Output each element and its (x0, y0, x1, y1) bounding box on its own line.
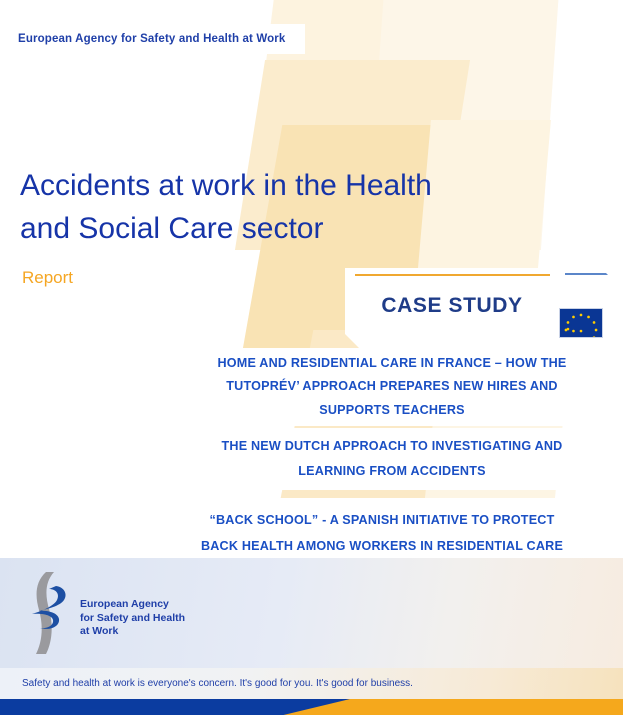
logo-line-3: at Work (80, 625, 185, 639)
case-study-card-title: “BACK SCHOOL” - A SPANISH INITIATIVE TO … (148, 508, 616, 560)
case-study-card: THE NEW DUTCH APPROACH TO INVESTIGATING … (168, 428, 616, 490)
case-study-line: SUPPORTS TEACHERS (178, 399, 606, 422)
badge-rule-blue (565, 273, 609, 275)
eu-osha-ribbon-icon (22, 570, 76, 656)
eu-osha-logo-text: European Agency for Safety and Health at… (80, 598, 185, 639)
logo-line-1: European Agency (80, 598, 185, 612)
case-study-line: TUTOPRÉV’ APPROACH PREPARES NEW HIRES AN… (178, 375, 606, 398)
case-study-line: BACK HEALTH AMONG WORKERS IN RESIDENTIAL… (156, 534, 608, 560)
case-study-label: CASE STUDY (345, 294, 559, 318)
footer-tagline: Safety and health at work is everyone's … (22, 678, 413, 689)
document-cover-page: European Agency for Safety and Health at… (0, 0, 623, 715)
document-type-label: Report (22, 268, 73, 288)
footer-color-bar (0, 699, 623, 715)
case-study-line: THE NEW DUTCH APPROACH TO INVESTIGATING … (178, 434, 606, 459)
case-study-card-title: HOME AND RESIDENTIAL CARE IN FRANCE – HO… (168, 352, 616, 422)
case-study-badge: CASE STUDY (345, 268, 615, 348)
badge-rule-orange (355, 274, 550, 276)
case-study-line: HOME AND RESIDENTIAL CARE IN FRANCE – HO… (178, 352, 606, 375)
eu-flag-icon (559, 308, 603, 338)
agency-wordmark: European Agency for Safety and Health at… (18, 33, 285, 45)
case-study-card: HOME AND RESIDENTIAL CARE IN FRANCE – HO… (168, 348, 616, 426)
case-study-line: “BACK SCHOOL” - A SPANISH INITIATIVE TO … (156, 508, 608, 534)
case-study-card-title: THE NEW DUTCH APPROACH TO INVESTIGATING … (168, 434, 616, 484)
case-study-line: LEARNING FROM ACCIDENTS (178, 459, 606, 484)
logo-line-2: for Safety and Health (80, 612, 185, 626)
eu-osha-logo: European Agency for Safety and Health at… (22, 570, 192, 656)
page-title: Accidents at work in the Health and Soci… (20, 165, 450, 250)
